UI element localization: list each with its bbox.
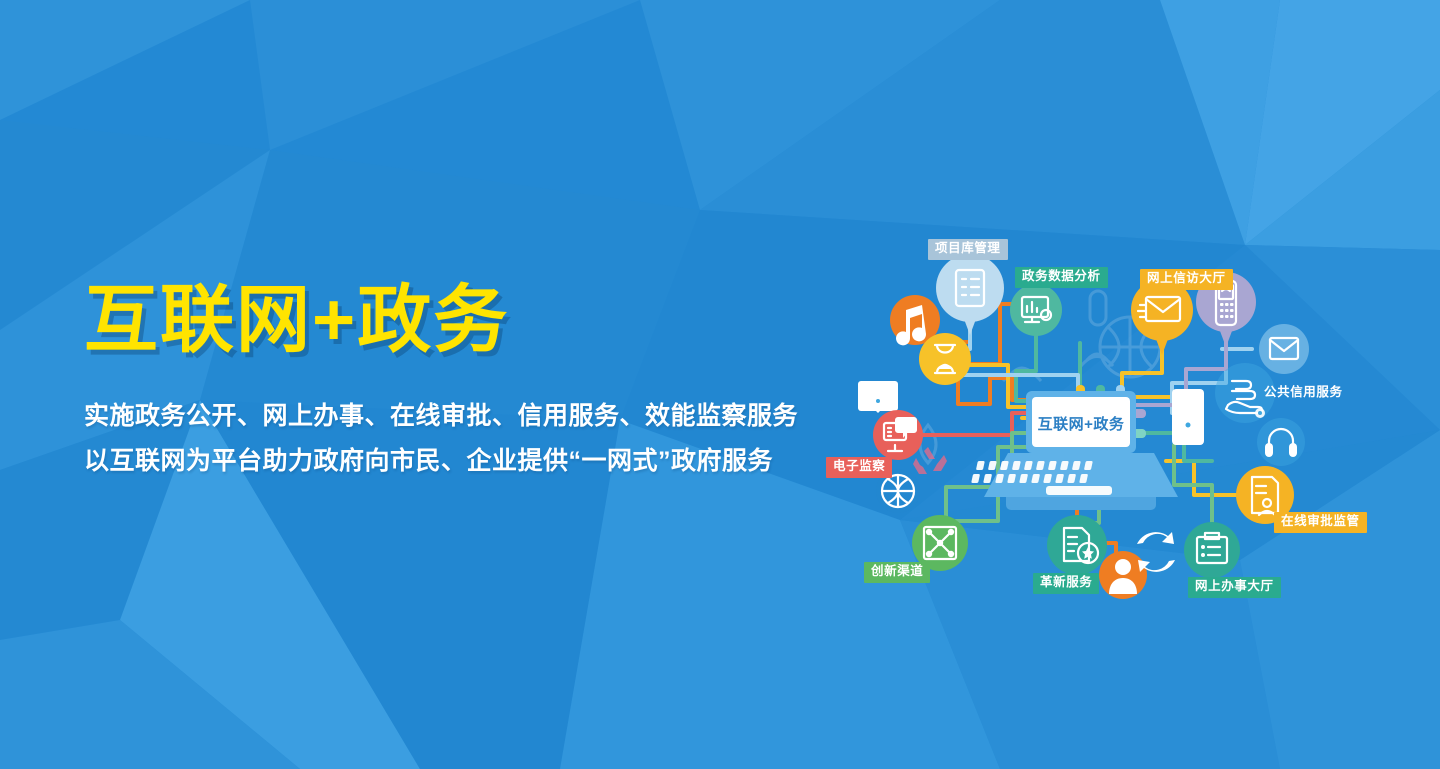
subtitle-group: 实施政务公开、网上办事、在线审批、信用服务、效能监察服务 以互联网为平台助力政府… <box>84 394 784 485</box>
page-title: 互联网+政务 <box>84 280 784 360</box>
monitor-chat-icon <box>873 410 923 460</box>
label-public-credit: 公共信用服务 <box>1262 383 1345 403</box>
doc-star-icon <box>1047 515 1107 575</box>
tablet-wifi-icon <box>1172 389 1204 445</box>
headphone-icon <box>1257 418 1305 466</box>
label-innovation-channel: 创新渠道 <box>864 562 930 583</box>
hero-text-block: 互联网+政务 实施政务公开、网上办事、在线审批、信用服务、效能监察服务 以互联网… <box>84 280 784 485</box>
label-online-petition-hall: 网上信访大厅 <box>1140 269 1233 290</box>
label-innovation-service: 革新服务 <box>1033 573 1099 594</box>
label-online-service-hall: 网上办事大厅 <box>1188 577 1281 598</box>
label-electronic-oversight: 电子监察 <box>826 457 892 478</box>
label-project-library: 项目库管理 <box>928 239 1008 260</box>
refresh-icon <box>1137 532 1175 572</box>
hourglass-icon <box>919 333 971 385</box>
label-gov-data-analysis: 政务数据分析 <box>1015 267 1108 288</box>
subtitle-line-1: 实施政务公开、网上办事、在线审批、信用服务、效能监察服务 <box>84 394 784 440</box>
label-online-approval: 在线审批监管 <box>1274 512 1367 533</box>
clipboard-icon <box>1184 522 1240 578</box>
envelope-small-icon <box>1259 324 1309 374</box>
document-list-icon <box>936 254 1004 335</box>
network-illustration: .wire { fill:none; stroke-width:4; strok… <box>840 225 1420 625</box>
subtitle-line-2: 以互联网为平台助力政府向市民、企业提供“一网式”政府服务 <box>84 439 784 485</box>
chart-report-icon <box>1010 284 1062 336</box>
wifi-card-icon <box>858 381 898 413</box>
person-icon <box>1099 551 1147 599</box>
laptop-screen-label: 互联网+政务 <box>1032 413 1130 434</box>
